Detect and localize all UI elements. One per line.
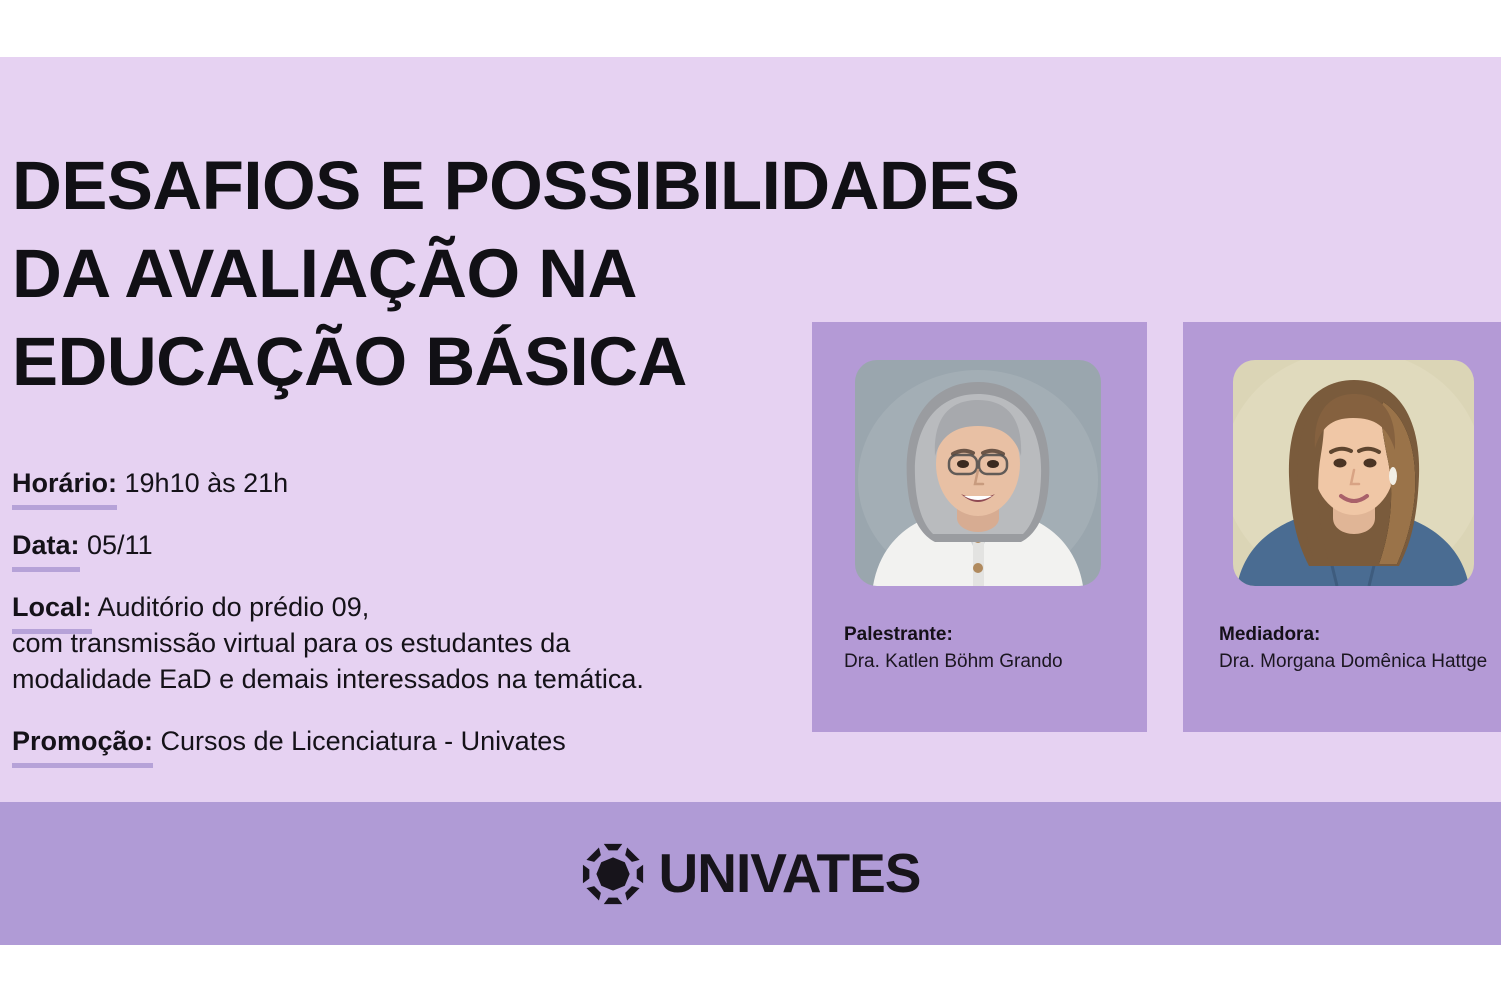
- speaker-name-mediadora: Dra. Morgana Domênica Hattge: [1219, 648, 1501, 676]
- speaker-photo-mediadora: [1233, 360, 1474, 586]
- speaker-info-palestrante: Palestrante: Dra. Katlen Böhm Grando: [844, 622, 1137, 676]
- univates-logo: UNIVATES: [581, 842, 921, 906]
- detail-value-data: 05/11: [80, 530, 153, 560]
- detail-label-data: Data:: [12, 527, 80, 563]
- detail-local-line-2: com transmissão virtual para os estudant…: [12, 625, 772, 661]
- speaker-card-palestrante: Palestrante: Dra. Katlen Böhm Grando: [812, 322, 1147, 732]
- title-line-1: DESAFIOS E POSSIBILIDADES: [12, 142, 1072, 230]
- detail-horario: Horário: 19h10 às 21h: [12, 465, 772, 501]
- speaker-info-mediadora: Mediadora: Dra. Morgana Domênica Hattge: [1219, 622, 1501, 676]
- detail-label-horario: Horário:: [12, 465, 117, 501]
- detail-local-line-3: modalidade EaD e demais interessados na …: [12, 661, 772, 697]
- title-line-2: DA AVALIAÇÃO NA: [12, 230, 1072, 318]
- speaker-role-mediadora: Mediadora:: [1219, 622, 1501, 648]
- detail-label-local: Local:: [12, 589, 92, 625]
- speaker-card-mediadora: Mediadora: Dra. Morgana Domênica Hattge: [1183, 322, 1501, 732]
- event-poster: DESAFIOS E POSSIBILIDADES DA AVALIAÇÃO N…: [0, 57, 1501, 945]
- footer-bar: UNIVATES: [0, 802, 1501, 945]
- detail-promocao: Promoção: Cursos de Licenciatura - Univa…: [12, 723, 772, 759]
- speaker-photo-palestrante: [855, 360, 1101, 586]
- portrait-illustration-mediadora: [1233, 360, 1474, 586]
- detail-local: Local: Auditório do prédio 09, com trans…: [12, 589, 772, 697]
- univates-octagon-icon: [581, 842, 645, 906]
- detail-label-promocao: Promoção:: [12, 723, 153, 759]
- detail-data: Data: 05/11: [12, 527, 772, 563]
- detail-value-horario: 19h10 às 21h: [117, 468, 288, 498]
- speaker-role-palestrante: Palestrante:: [844, 622, 1137, 648]
- detail-value-local: Auditório do prédio 09,: [92, 592, 370, 622]
- event-details: Horário: 19h10 às 21h Data: 05/11 Local:…: [12, 465, 772, 785]
- detail-value-promocao: Cursos de Licenciatura - Univates: [153, 726, 566, 756]
- univates-wordmark: UNIVATES: [659, 846, 921, 901]
- portrait-illustration-palestrante: [855, 360, 1101, 586]
- speaker-name-palestrante: Dra. Katlen Böhm Grando: [844, 648, 1137, 676]
